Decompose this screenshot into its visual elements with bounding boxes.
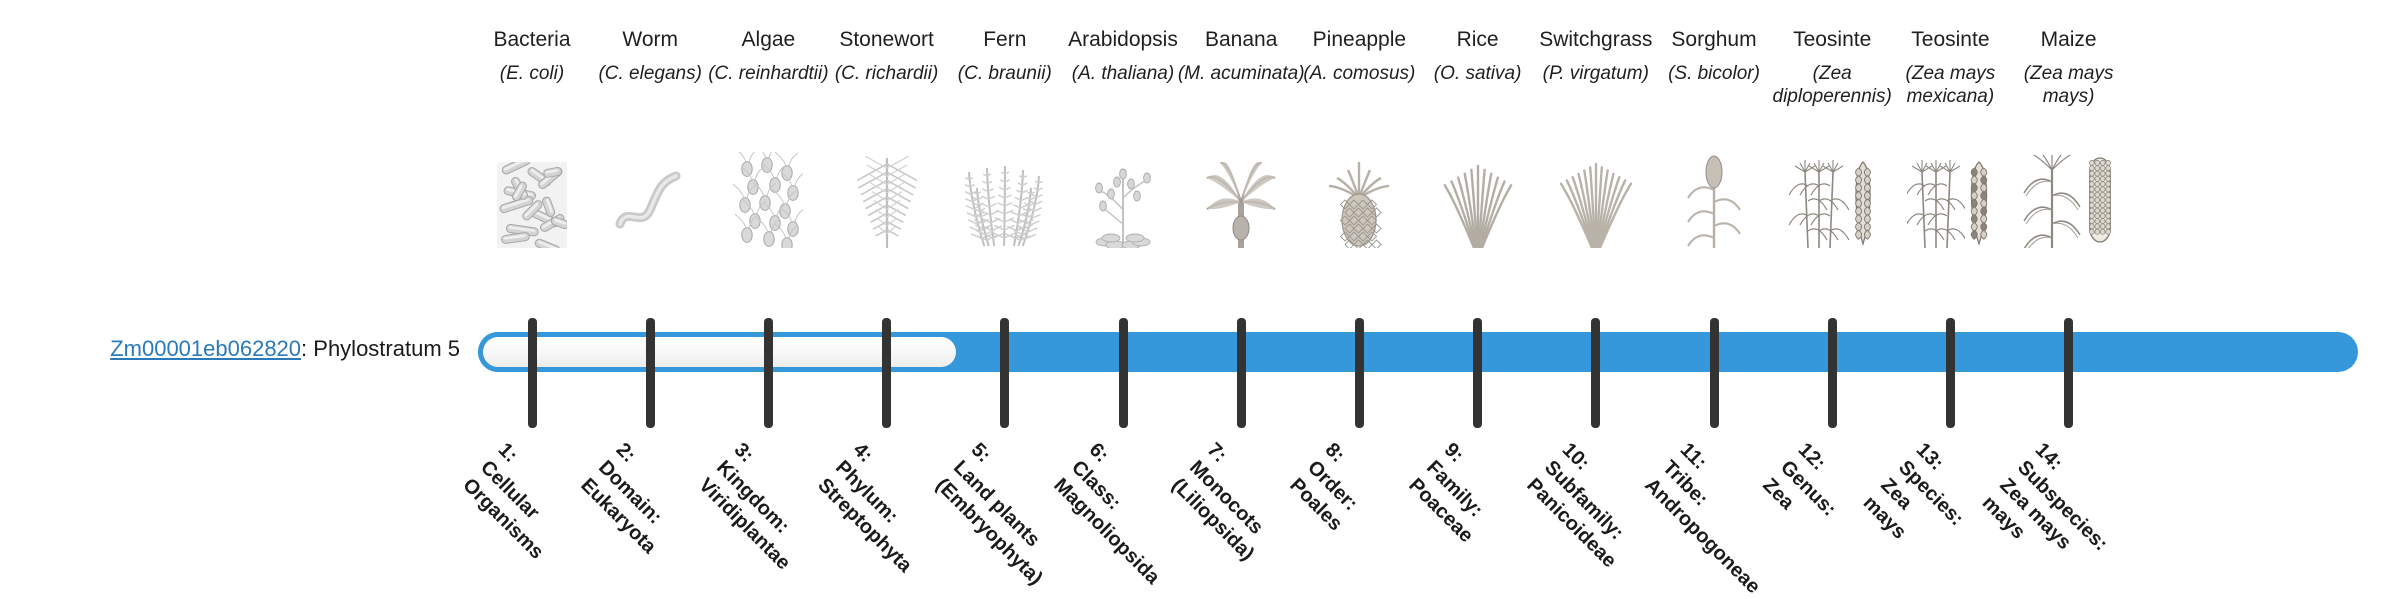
species-column-9: Rice(O. sativa) [1412,28,1544,85]
species-latin-name: (Zea mays mexicana) [1884,62,2016,108]
species-latin-name: (C. braunii) [939,62,1071,85]
switchgrass-icon [1530,148,1662,248]
phylostratum-label-14: 14: Subspecies: Zea mays mays [1976,438,2130,592]
phylostratum-label-1: 1: Cellular Organisms [457,438,584,565]
species-common-name: Maize [2003,28,2135,52]
species-latin-name: (A. thaliana) [1057,62,1189,85]
phylostratum-label-4: 4: Phylum: Streptophyta [812,438,952,578]
phylostratum-label-3: 3: Kingdom: Viridiplantae [693,438,831,576]
tick-12 [1828,318,1837,428]
teosinte-mexicana-icon [1884,148,2016,248]
species-latin-name: (O. sativa) [1412,62,1544,85]
species-latin-name: (C. richardii) [821,62,953,85]
species-latin-name: (C. elegans) [584,62,716,85]
species-column-7: Banana(M. acuminata) [1175,28,1307,85]
phylostratum-label-11: 11: Tribe: Andropogoneae [1639,438,1800,599]
species-column-8: Pineapple(A. comosus) [1293,28,1425,85]
species-common-name: Pineapple [1293,28,1425,52]
gene-id-link[interactable]: Zm00001eb062820 [110,336,301,361]
tick-1 [528,318,537,428]
tick-9 [1473,318,1482,428]
species-header-row: Bacteria(E. coli)Worm(C. elegans)Algae(C… [478,28,2358,318]
species-latin-name: (E. coli) [466,62,598,85]
species-common-name: Fern [939,28,1071,52]
species-latin-name: (M. acuminata) [1175,62,1307,85]
species-latin-name: (Zea diploperennis) [1766,62,1898,108]
species-common-name: Sorghum [1648,28,1780,52]
bacteria-icon [466,148,598,248]
species-column-12: Teosinte(Zea diploperennis) [1766,28,1898,108]
sorghum-icon [1648,148,1780,248]
phylostratigraphy-timeline: Zm00001eb062820: Phylostratum 5 Bacteria… [0,0,2400,580]
tick-14 [2064,318,2073,428]
species-common-name: Switchgrass [1530,28,1662,52]
phylostratum-label-5: 5: Land plants (Embryophyta) [930,438,1083,591]
phylostratum-label-8: 8: Order: Poales [1284,438,1383,537]
gene-label-separator: : [301,336,313,361]
pineapple-icon [1293,148,1425,248]
tick-6 [1119,318,1128,428]
species-column-3: Algae(C. reinhardtii) [702,28,834,85]
species-common-name: Worm [584,28,716,52]
species-column-10: Switchgrass(P. virgatum) [1530,28,1662,85]
algae-icon [702,148,834,248]
tick-4 [882,318,891,428]
gene-phylostratum-label: Zm00001eb062820: Phylostratum 5 [40,336,460,362]
species-common-name: Arabidopsis [1057,28,1189,52]
species-column-1: Bacteria(E. coli) [466,28,598,85]
phylostratum-label-6: 6: Class: Magnoliopsida [1048,438,1200,590]
tick-8 [1355,318,1364,428]
tick-10 [1591,318,1600,428]
species-common-name: Rice [1412,28,1544,52]
tick-5 [1000,318,1009,428]
species-column-2: Worm(C. elegans) [584,28,716,85]
phylostratum-label-10: 10: Subfamily: Panicoideae [1521,438,1657,574]
tick-13 [1946,318,1955,428]
tick-7 [1237,318,1246,428]
phylostratum-bar[interactable] [478,332,2358,372]
arabidopsis-icon [1057,148,1189,248]
teosinte-diploperennis-icon [1766,148,1898,248]
species-common-name: Teosinte [1766,28,1898,52]
species-latin-name: (Zea mays mays) [2003,62,2135,108]
tick-11 [1710,318,1719,428]
phylostratum-text: Phylostratum 5 [313,336,460,361]
species-latin-name: (P. virgatum) [1530,62,1662,85]
rice-icon [1412,148,1544,248]
fern-icon [939,148,1071,248]
species-common-name: Stonewort [821,28,953,52]
species-common-name: Teosinte [1884,28,2016,52]
species-column-11: Sorghum(S. bicolor) [1648,28,1780,85]
maize-icon [2003,148,2135,248]
species-column-4: Stonewort(C. richardii) [821,28,953,85]
species-column-13: Teosinte(Zea mays mexicana) [1884,28,2016,108]
species-latin-name: (C. reinhardtii) [702,62,834,85]
stonewort-icon [821,148,953,248]
species-latin-name: (S. bicolor) [1648,62,1780,85]
banana-icon [1175,148,1307,248]
species-column-14: Maize(Zea mays mays) [2003,28,2135,108]
worm-icon [584,148,716,248]
tick-2 [646,318,655,428]
phylostratum-label-9: 9: Family: Poaceae [1403,438,1513,548]
phylostratum-label-13: 13: Species: Zea mays [1858,438,1987,567]
species-column-5: Fern(C. braunii) [939,28,1071,85]
species-common-name: Algae [702,28,834,52]
tick-3 [764,318,773,428]
species-latin-name: (A. comosus) [1293,62,1425,85]
species-column-6: Arabidopsis(A. thaliana) [1057,28,1189,85]
species-common-name: Banana [1175,28,1307,52]
phylostratum-label-2: 2: Domain: Eukaryota [575,438,696,559]
species-common-name: Bacteria [466,28,598,52]
